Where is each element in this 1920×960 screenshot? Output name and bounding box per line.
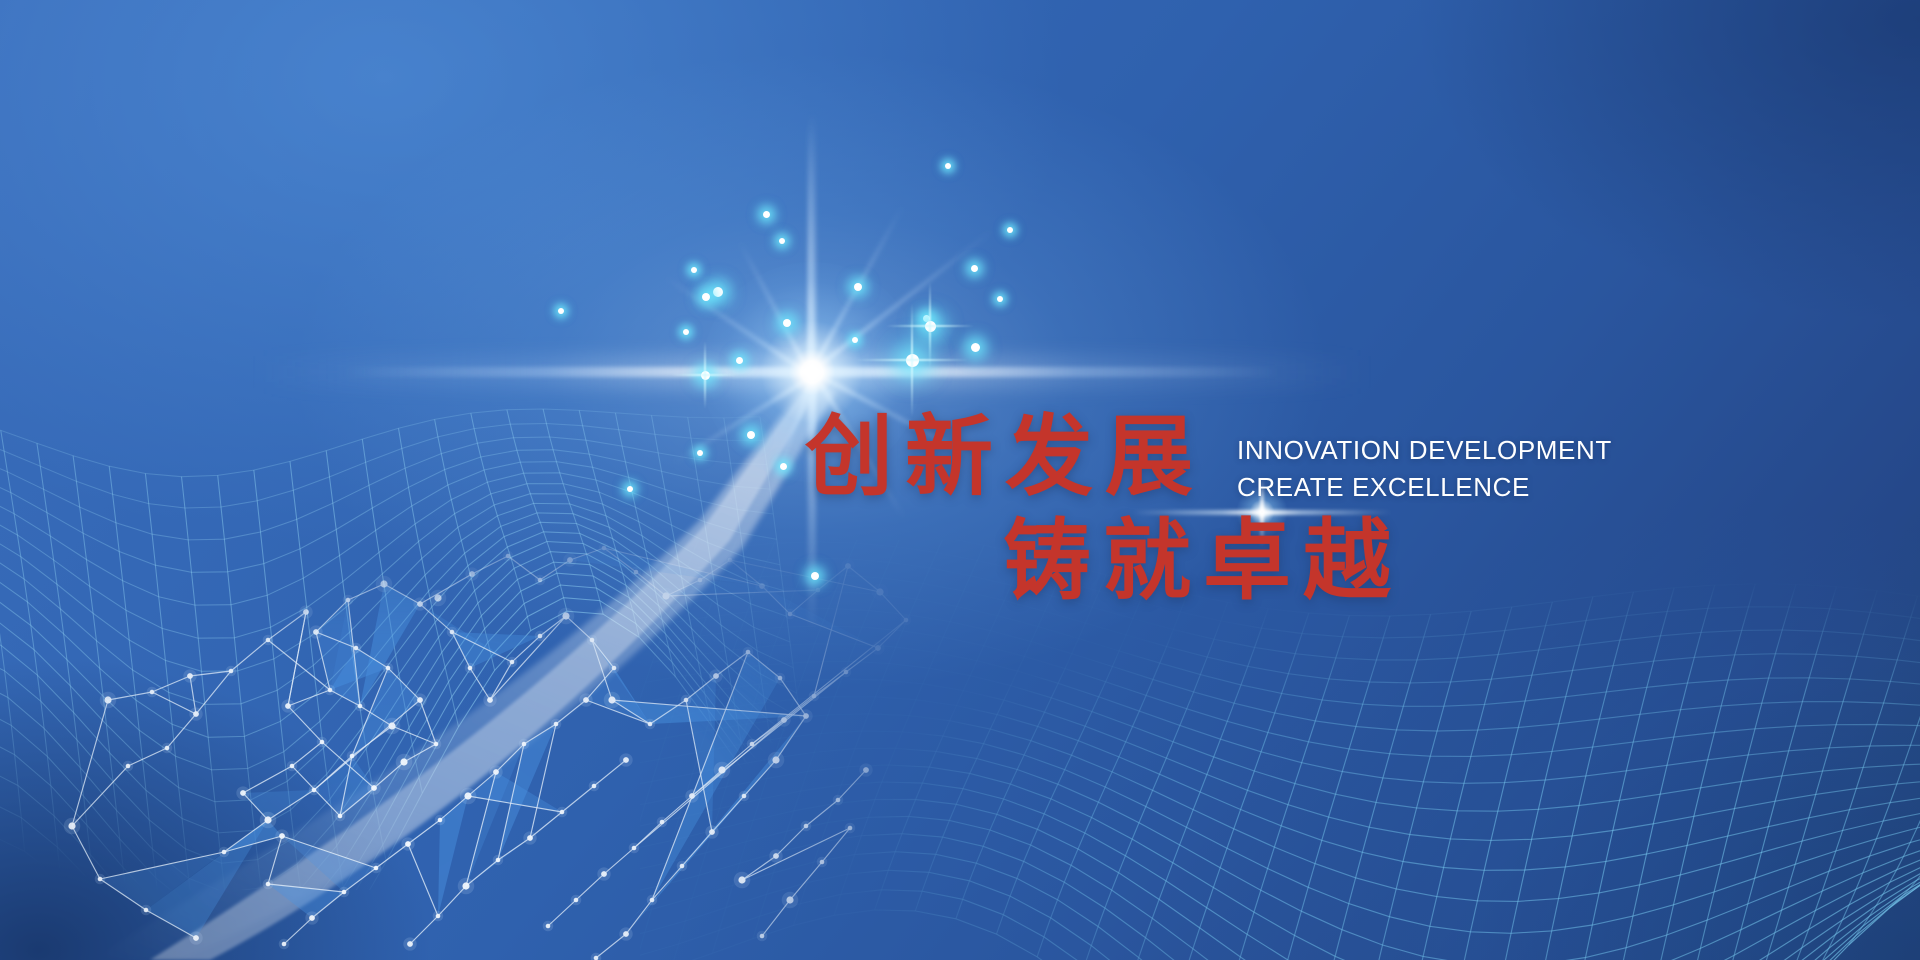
sparkle-dot-1 bbox=[763, 211, 770, 218]
sparkle-dot-12 bbox=[971, 265, 978, 272]
subtitle-line-2: CREATE EXCELLENCE bbox=[1237, 469, 1612, 506]
sparkle-dot-17 bbox=[683, 329, 689, 335]
sparkle-dot-11 bbox=[971, 343, 980, 352]
sparkle-dot-0 bbox=[713, 287, 723, 297]
sparkle-dot-23 bbox=[558, 308, 564, 314]
sparkle-dot-7 bbox=[923, 315, 930, 322]
subtitle-block: INNOVATION DEVELOPMENT CREATE EXCELLENCE bbox=[1237, 432, 1612, 506]
sparkle-dot-18 bbox=[691, 267, 697, 273]
sparkle-dot-22 bbox=[627, 486, 633, 492]
sparkle-dot-9 bbox=[925, 321, 936, 332]
sparkle-dot-21 bbox=[945, 163, 951, 169]
headline-line-2: 铸就卓越 bbox=[1003, 509, 1565, 613]
banner-canvas: 创新发展 铸就卓越 INNOVATION DEVELOPMENT CREATE … bbox=[0, 0, 1920, 960]
sparkle-dot-24 bbox=[1007, 227, 1013, 233]
sparkle-dot-2 bbox=[779, 238, 785, 244]
subtitle-line-1: INNOVATION DEVELOPMENT bbox=[1237, 432, 1612, 469]
sparkle-dot-20 bbox=[697, 450, 703, 456]
sparkle-dot-13 bbox=[997, 296, 1003, 302]
